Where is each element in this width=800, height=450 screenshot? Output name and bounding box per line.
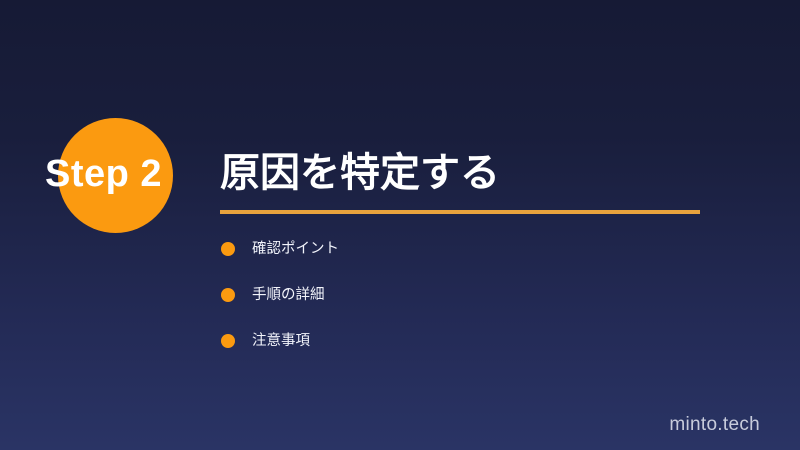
- list-item: 手順の詳細: [220, 281, 680, 327]
- list-item-label: 手順の詳細: [252, 281, 325, 309]
- footer-brand: minto.tech: [669, 414, 760, 436]
- bullet-dot-icon: [221, 334, 235, 348]
- slide-title: 原因を特定する: [220, 148, 500, 198]
- bullet-dot-icon: [221, 242, 235, 256]
- title-underline-rule: [220, 210, 700, 214]
- bullet-list: 確認ポイント 手順の詳細 注意事項: [220, 235, 680, 373]
- list-item-label: 確認ポイント: [252, 235, 339, 263]
- step-badge-label: Step 2: [45, 151, 245, 197]
- list-item-label: 注意事項: [252, 327, 310, 355]
- bullet-dot-icon: [221, 288, 235, 302]
- list-item: 注意事項: [220, 327, 680, 373]
- presentation-slide: Step 2 原因を特定する 確認ポイント 手順の詳細 注意事項 minto.t…: [0, 0, 800, 450]
- list-item: 確認ポイント: [220, 235, 680, 281]
